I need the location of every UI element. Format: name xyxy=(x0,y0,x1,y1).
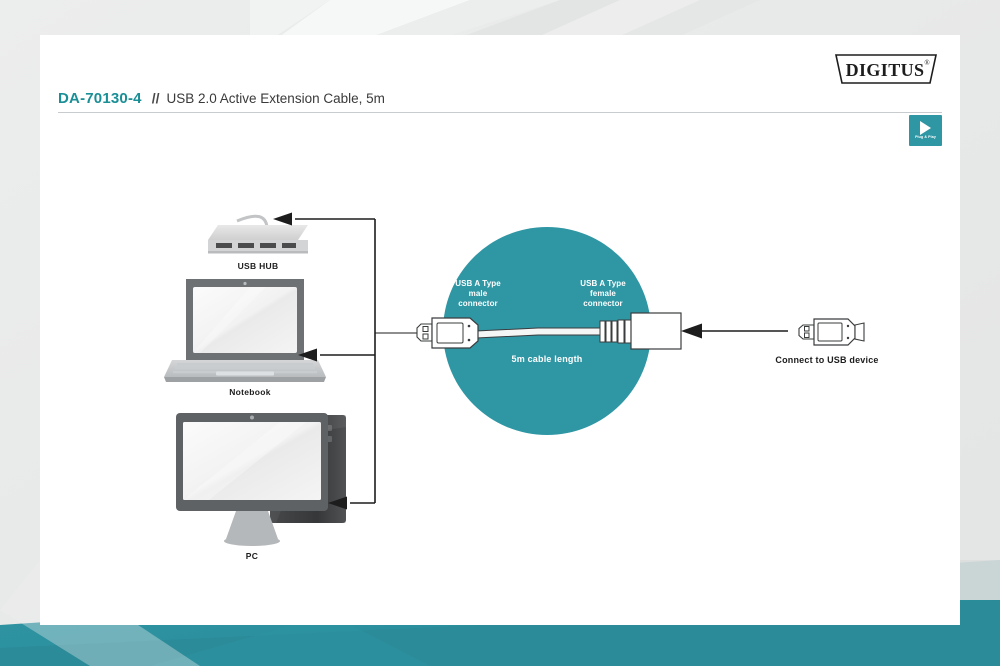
notebook-icon xyxy=(164,279,326,382)
cable-length-label: 5m cable length xyxy=(477,354,617,364)
usb-a-male-plug-icon xyxy=(799,319,864,345)
desktop-pc-icon xyxy=(176,413,346,546)
content-card: DIGITUS ® DA-70130-4 // USB 2.0 Active E… xyxy=(40,35,960,625)
male-connector-line-2: male xyxy=(428,289,528,299)
female-connector-line-1: USB A Type xyxy=(553,279,653,289)
connection-diagram: USB HUB Notebook PC USB A Type male conn… xyxy=(40,35,960,625)
device-label-notebook: Notebook xyxy=(185,387,315,397)
female-connector-line-3: connector xyxy=(553,299,653,309)
male-connector-line-3: connector xyxy=(428,299,528,309)
connect-to-usb-device-label: Connect to USB device xyxy=(692,355,962,365)
usb-hub-icon xyxy=(208,216,308,253)
male-connector-line-1: USB A Type xyxy=(428,279,528,289)
device-label-usb-hub: USB HUB xyxy=(198,261,318,271)
female-connector-label: USB A Type female connector xyxy=(553,279,653,310)
female-connector-line-2: female xyxy=(553,289,653,299)
device-label-pc: PC xyxy=(192,551,312,561)
usb-device-arrow xyxy=(681,324,788,339)
male-connector-label: USB A Type male connector xyxy=(428,279,528,310)
